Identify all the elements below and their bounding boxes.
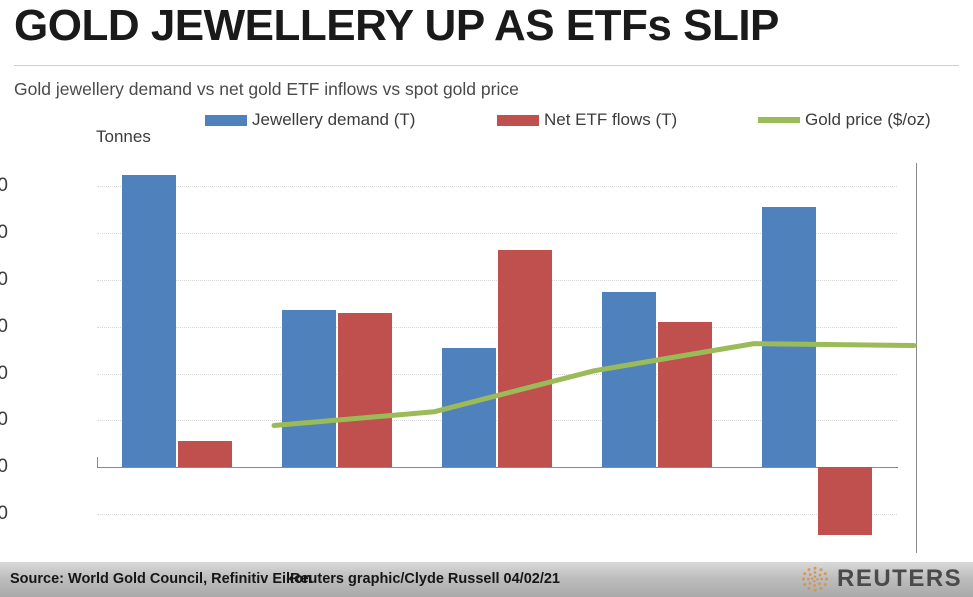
bar-jewellery-demand [442, 348, 496, 467]
bar-jewellery-demand [602, 292, 656, 468]
legend-swatch-jewellery-icon [205, 115, 247, 126]
y-axis-tick-label-left: 360 [0, 269, 8, 291]
y-axis-tick-label-left: -40 [0, 456, 8, 478]
legend-label-etf: Net ETF flows (T) [544, 110, 677, 130]
reuters-wordmark: REUTERS [837, 565, 962, 593]
legend-label-jewellery: Jewellery demand (T) [252, 110, 415, 130]
title-divider [14, 65, 959, 66]
gridline [97, 514, 897, 516]
legend-item-jewellery-demand: Jewellery demand (T) [205, 108, 415, 132]
reuters-swirl-icon [800, 564, 830, 594]
bar-jewellery-demand [282, 310, 336, 467]
y-axis-tick-label-left: 260 [0, 316, 8, 338]
source-text: Source: World Gold Council, Refinitiv Ei… [10, 571, 312, 587]
y-axis-tick-label-left: 460 [0, 222, 8, 244]
legend-item-net-etf-flows: Net ETF flows (T) [497, 108, 677, 132]
chart-legend: Jewellery demand (T) Net ETF flows (T) G… [205, 108, 965, 132]
chart-subtitle: Gold jewellery demand vs net gold ETF in… [14, 79, 519, 100]
y-axis-unit-label: Tonnes [96, 127, 151, 147]
chart-page: GOLD JEWELLERY UP AS ETFs SLIP Gold jewe… [0, 0, 973, 597]
page-title: GOLD JEWELLERY UP AS ETFs SLIP [14, 2, 959, 50]
legend-swatch-etf-icon [497, 115, 539, 126]
bar-net-etf-flows [178, 441, 232, 467]
bar-net-etf-flows [818, 467, 872, 535]
legend-swatch-price-icon [758, 117, 800, 123]
y-axis-tick-label-left: 160 [0, 363, 8, 385]
legend-label-price: Gold price ($/oz) [805, 110, 931, 130]
right-axis-spine [916, 163, 917, 553]
bar-net-etf-flows [658, 322, 712, 467]
y-axis-tick-label-left: 560 [0, 175, 8, 197]
reuters-logo: REUTERS [800, 563, 962, 595]
bar-jewellery-demand [122, 175, 176, 468]
legend-item-gold-price: Gold price ($/oz) [758, 108, 931, 132]
y-axis-tick-label-left: 60 [0, 409, 8, 431]
credit-text: Reuters graphic/Clyde Russell 04/02/21 [290, 571, 560, 587]
left-axis-spine [97, 457, 98, 468]
y-axis-tick-label-left: -140 [0, 503, 8, 525]
bar-net-etf-flows [338, 313, 392, 467]
gridline [97, 186, 897, 188]
bar-net-etf-flows [498, 250, 552, 468]
baseline-axis [97, 467, 898, 468]
plot-area: 56046036026016060-40-140 200018001600140… [97, 163, 897, 514]
bar-jewellery-demand [762, 207, 816, 467]
